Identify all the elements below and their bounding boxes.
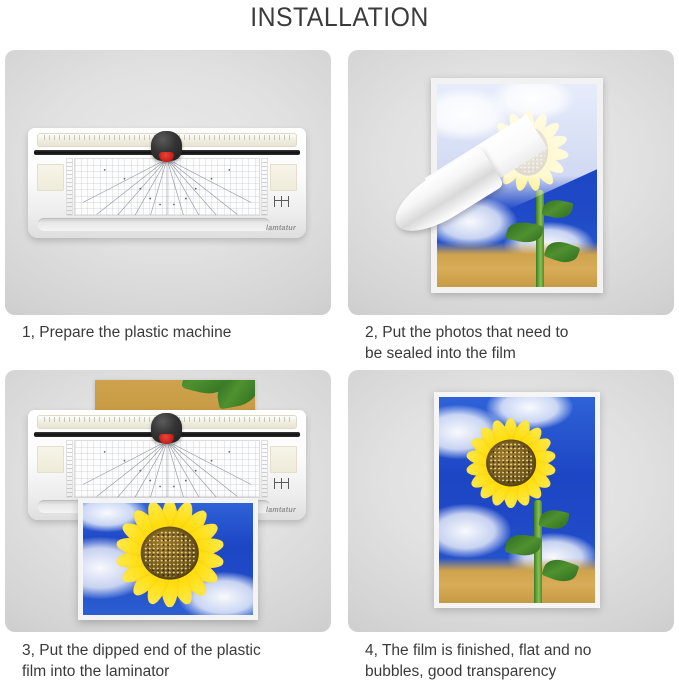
machine-pad-left (37, 164, 64, 191)
machine-pad-right (270, 446, 297, 473)
sunflower-core (486, 439, 536, 486)
sunflower-head (97, 503, 243, 615)
cutting-mat-angle-rays (75, 159, 259, 216)
machine-cutting-mat (74, 440, 260, 498)
step-3-caption: 3, Put the dipped end of the plastic fil… (22, 640, 322, 682)
photo-exiting-laminator (78, 498, 258, 620)
machine-right-ruler (261, 440, 268, 498)
cutting-mat-angle-rays (75, 441, 259, 498)
laminator-machine: lamtatur (28, 128, 306, 238)
sunflower-head (445, 409, 576, 516)
sunflower-photo-output (83, 503, 253, 615)
machine-pad-left (37, 446, 64, 473)
step-1: lamtatur 1, Prepare the plastic machine (5, 50, 331, 370)
machine-guide-marks (272, 196, 294, 207)
machine-left-ruler (66, 440, 73, 498)
machine-front-slot (38, 218, 270, 231)
machine-guide-marks (272, 478, 294, 489)
finished-laminated-photo-frame (434, 392, 600, 608)
step-2-caption: 2, Put the photos that need to be sealed… (365, 322, 665, 364)
step-2: 2, Put the photos that need to be sealed… (348, 50, 674, 370)
step-4: 4, The film is finished, flat and no bub… (348, 370, 674, 685)
machine-brand-label: lamtatur (266, 225, 296, 232)
sunflower-core (140, 527, 198, 580)
page-title: INSTALLATION (27, 0, 652, 42)
installation-infographic: INSTALLATION (0, 0, 679, 689)
machine-pad-right (270, 164, 297, 191)
step-4-caption: 4, The film is finished, flat and no bub… (365, 640, 665, 682)
step-3: lamtatur (5, 370, 331, 685)
step-4-image (348, 370, 674, 632)
steps-grid: lamtatur 1, Prepare the plastic machine (5, 50, 674, 685)
step-3-image: lamtatur (5, 370, 331, 632)
machine-brand-label: lamtatur (266, 507, 296, 514)
machine-left-ruler (66, 158, 73, 216)
machine-right-ruler (261, 158, 268, 216)
step-1-image: lamtatur (5, 50, 331, 315)
step-2-image (348, 50, 674, 315)
sunflower-photo-finished (439, 397, 595, 603)
machine-cutting-mat (74, 158, 260, 216)
step-1-caption: 1, Prepare the plastic machine (22, 322, 322, 343)
